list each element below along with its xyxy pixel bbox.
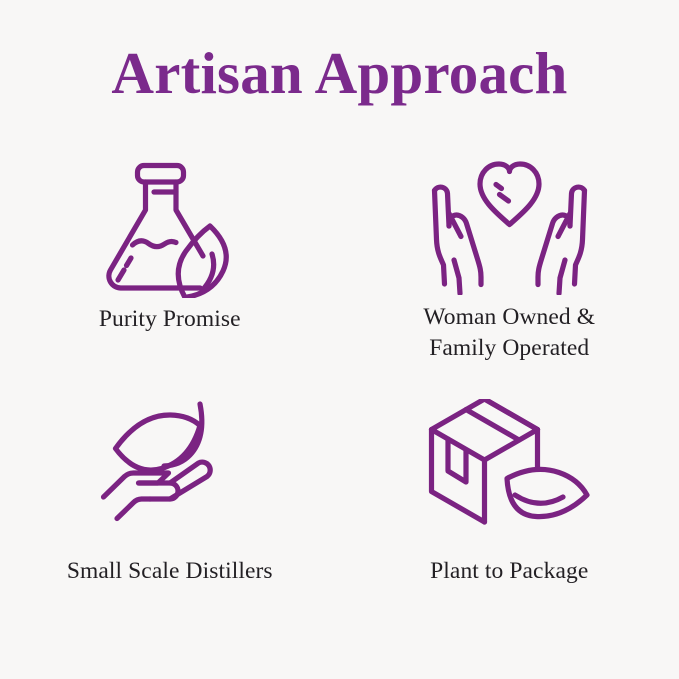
features-grid: Purity Promise xyxy=(0,150,679,638)
feature-label: Woman Owned & Family Operated xyxy=(423,302,595,363)
feature-label: Plant to Package xyxy=(430,556,588,587)
box-leaf-icon xyxy=(422,394,597,534)
feature-item-woman-owned: Woman Owned & Family Operated xyxy=(340,150,679,394)
leaf-in-hand-icon xyxy=(95,394,245,534)
feature-item-plant-to-package: Plant to Package xyxy=(340,394,679,638)
hands-heart-icon xyxy=(427,150,592,298)
feature-item-small-scale-distillers: Small Scale Distillers xyxy=(0,394,340,638)
page-title: Artisan Approach xyxy=(0,44,679,103)
flask-leaf-icon xyxy=(95,150,245,298)
feature-label: Purity Promise xyxy=(99,304,241,335)
feature-label: Small Scale Distillers xyxy=(67,556,273,587)
feature-item-purity-promise: Purity Promise xyxy=(0,150,340,394)
artisan-approach-panel: Artisan Approach xyxy=(0,0,679,679)
